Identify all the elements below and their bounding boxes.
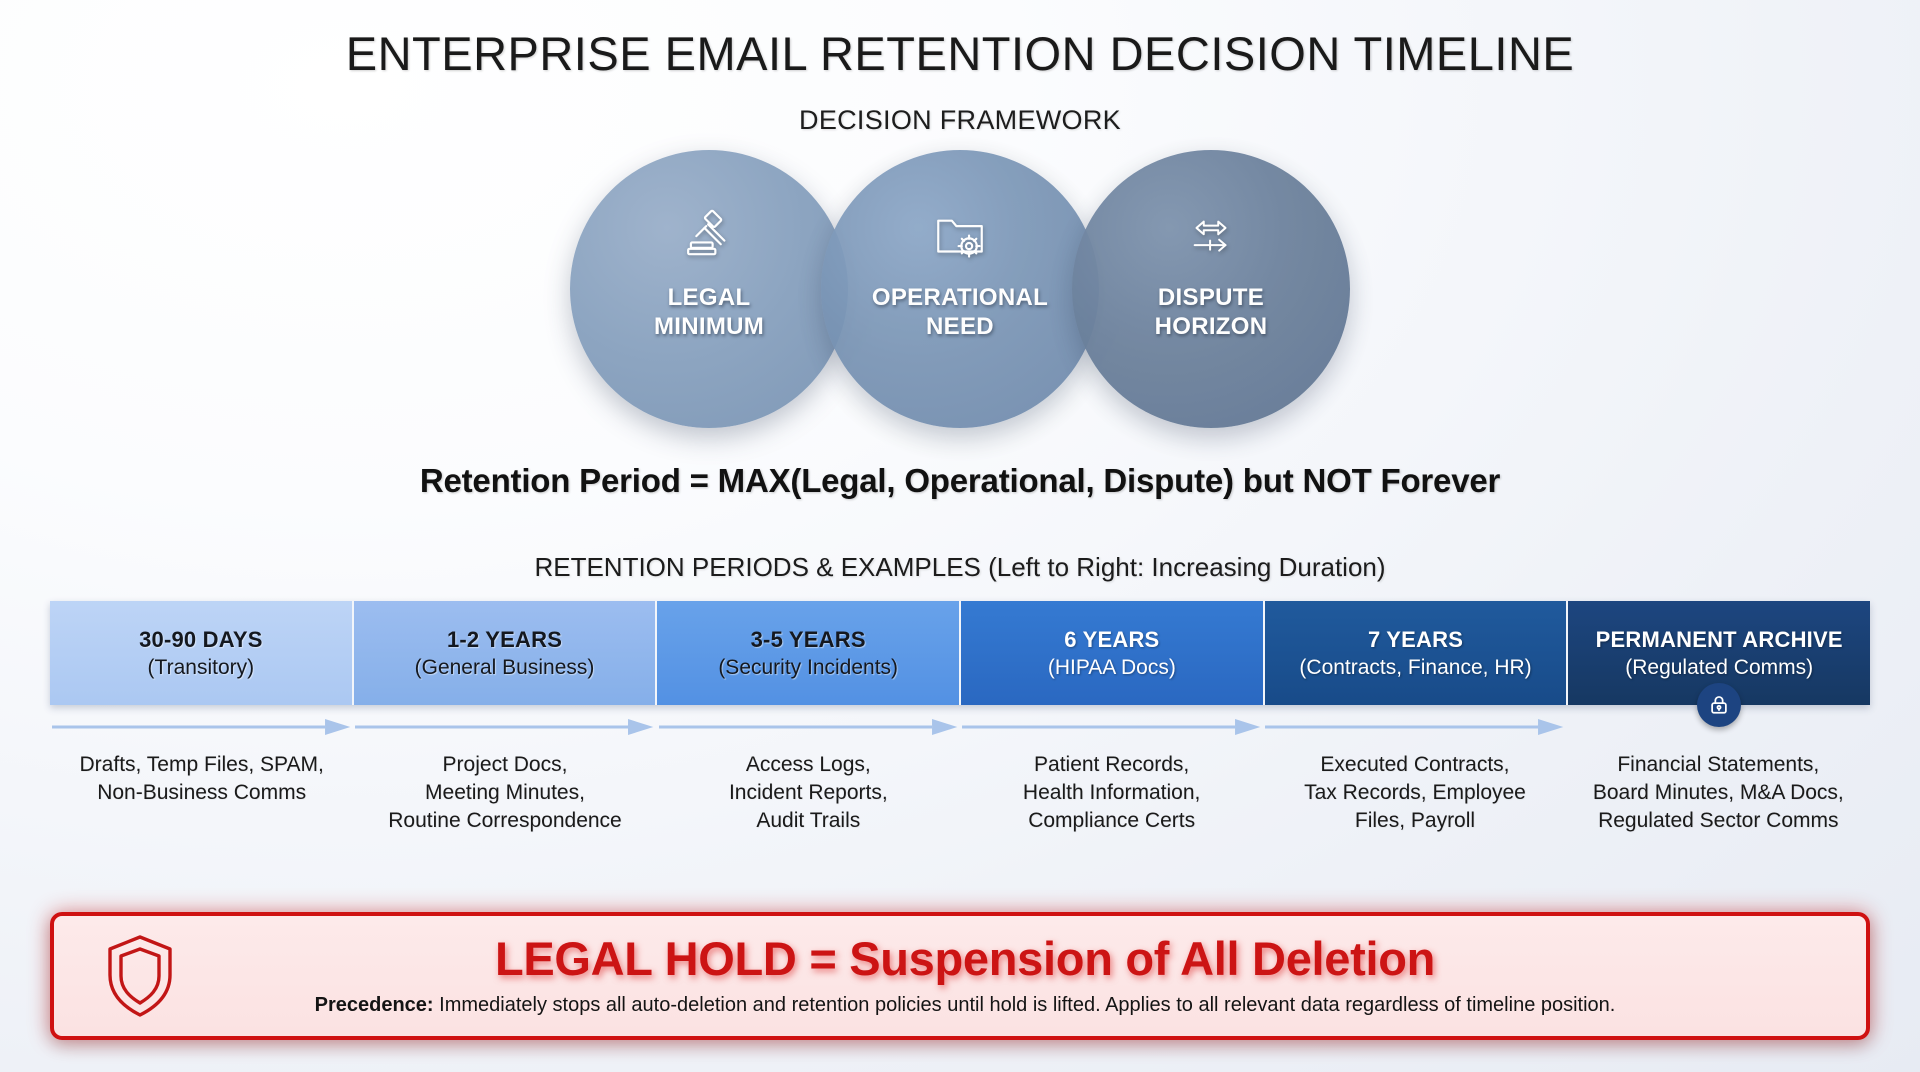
framework-circle-operational-need[interactable]: OPERATIONAL NEED: [821, 150, 1099, 428]
timeline-segment-6-years[interactable]: 6 YEARS (HIPAA Docs): [961, 601, 1265, 705]
framework-circle-label: OPERATIONAL NEED: [872, 283, 1048, 342]
legal-hold-note-body: Immediately stops all auto-deletion and …: [439, 994, 1615, 1016]
legal-hold-headline: LEGAL HOLD = Suspension of All Deletion: [200, 934, 1730, 983]
timeline-arrow-2: [353, 707, 656, 747]
right-arrow-icon: [50, 718, 353, 736]
segment-examples: Financial Statements, Board Minutes, M&A…: [1567, 751, 1870, 835]
decision-framework-circles: LEGAL MINIMUM OPERATIONAL NEED: [570, 150, 1350, 428]
timeline-arrow-4: [960, 707, 1263, 747]
gavel-icon: [680, 208, 738, 271]
segment-examples: Project Docs, Meeting Minutes, Routine C…: [353, 751, 656, 835]
right-arrow-icon: [657, 718, 960, 736]
timeline-arrow-5: [1263, 707, 1566, 747]
segment-subtitle: (Security Incidents): [718, 656, 898, 680]
framework-heading: DECISION FRAMEWORK: [0, 105, 1920, 136]
right-arrow-icon: [1263, 718, 1566, 736]
legal-hold-note-label: Precedence:: [315, 994, 434, 1016]
timeline-segment-30-90-days[interactable]: 30-90 DAYS (Transitory): [50, 601, 354, 705]
timeline-bar: 30-90 DAYS (Transitory) 1-2 YEARS (Gener…: [50, 601, 1870, 705]
retention-formula: Retention Period = MAX(Legal, Operationa…: [0, 462, 1920, 500]
retention-timeline: 30-90 DAYS (Transitory) 1-2 YEARS (Gener…: [50, 601, 1870, 835]
segment-title: PERMANENT ARCHIVE: [1596, 627, 1843, 653]
legal-hold-banner: LEGAL HOLD = Suspension of All Deletion …: [50, 912, 1870, 1040]
segment-examples: Executed Contracts, Tax Records, Employe…: [1263, 751, 1566, 835]
lock-icon: [1697, 683, 1741, 727]
legal-hold-text: LEGAL HOLD = Suspension of All Deletion …: [200, 934, 1840, 1018]
framework-circle-dispute-horizon[interactable]: DISPUTE HORIZON: [1072, 150, 1350, 428]
page-title: ENTERPRISE EMAIL RETENTION DECISION TIME…: [0, 0, 1920, 81]
double-arrow-icon: [1182, 208, 1240, 271]
timeline-heading: RETENTION PERIODS & EXAMPLES (Left to Ri…: [0, 552, 1920, 583]
shield-icon: [80, 933, 200, 1019]
segment-subtitle: (General Business): [415, 656, 595, 680]
segment-subtitle: (Contracts, Finance, HR): [1299, 656, 1531, 680]
segment-title: 7 YEARS: [1368, 627, 1463, 653]
timeline-segment-7-years[interactable]: 7 YEARS (Contracts, Finance, HR): [1265, 601, 1569, 705]
framework-circle-legal-minimum[interactable]: LEGAL MINIMUM: [570, 150, 848, 428]
segment-title: 30-90 DAYS: [139, 627, 262, 653]
folder-gear-icon: [931, 208, 989, 271]
segment-title: 6 YEARS: [1064, 627, 1159, 653]
segment-subtitle: (Transitory): [148, 656, 255, 680]
timeline-segment-3-5-years[interactable]: 3-5 YEARS (Security Incidents): [657, 601, 961, 705]
segment-examples: Drafts, Temp Files, SPAM, Non-Business C…: [50, 751, 353, 835]
framework-circle-label: LEGAL MINIMUM: [654, 283, 764, 342]
segment-subtitle: (Regulated Comms): [1625, 656, 1813, 680]
framework-circle-label: DISPUTE HORIZON: [1155, 283, 1268, 342]
right-arrow-icon: [353, 718, 656, 736]
timeline-arrows: [50, 707, 1870, 747]
timeline-examples: Drafts, Temp Files, SPAM, Non-Business C…: [50, 751, 1870, 835]
segment-examples: Patient Records, Health Information, Com…: [960, 751, 1263, 835]
segment-subtitle: (HIPAA Docs): [1048, 656, 1176, 680]
timeline-segment-1-2-years[interactable]: 1-2 YEARS (General Business): [354, 601, 658, 705]
timeline-arrow-3: [657, 707, 960, 747]
legal-hold-note: Precedence: Immediately stops all auto-d…: [200, 993, 1730, 1018]
timeline-segment-permanent-archive[interactable]: PERMANENT ARCHIVE (Regulated Comms): [1568, 601, 1870, 705]
segment-examples: Access Logs, Incident Reports, Audit Tra…: [657, 751, 960, 835]
timeline-arrow-1: [50, 707, 353, 747]
segment-title: 3-5 YEARS: [751, 627, 866, 653]
segment-title: 1-2 YEARS: [447, 627, 562, 653]
right-arrow-icon: [960, 718, 1263, 736]
